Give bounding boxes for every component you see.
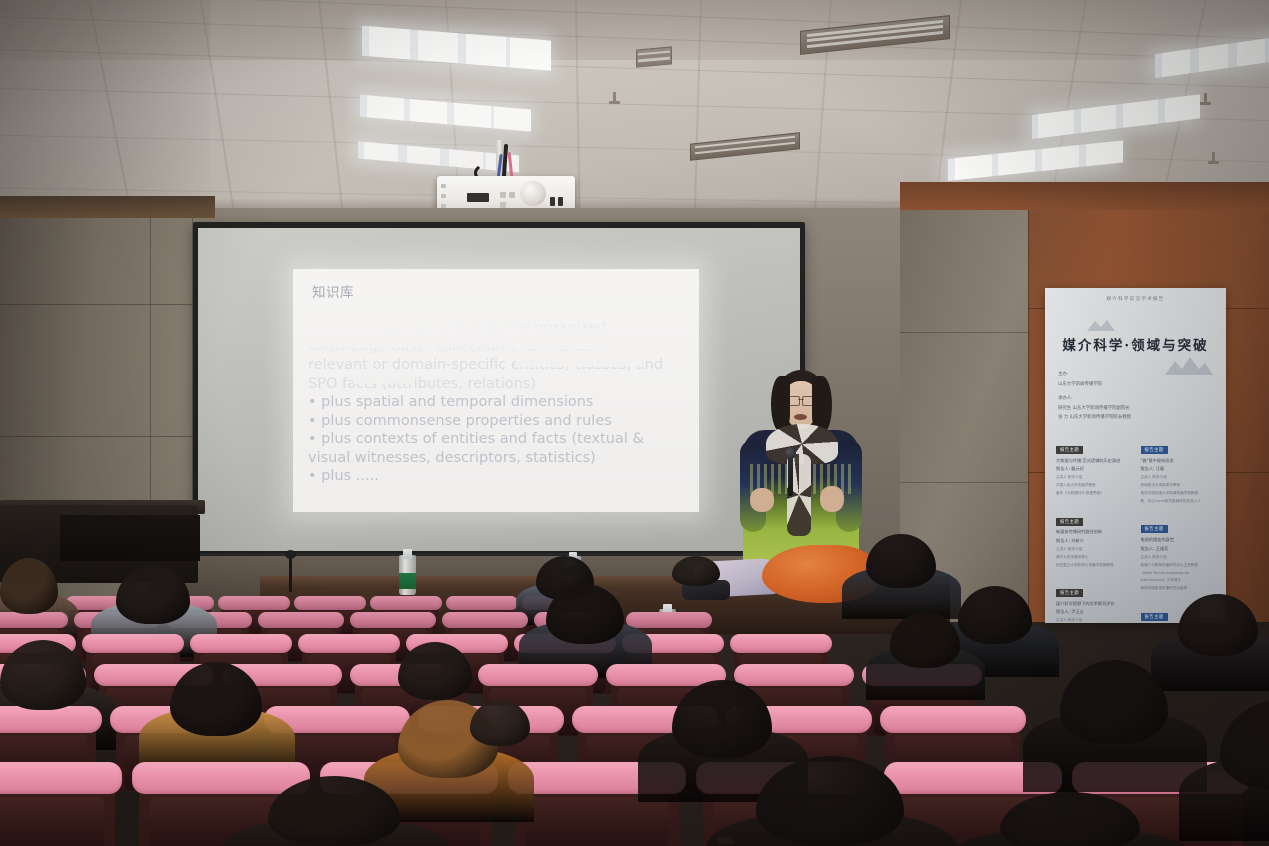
poster-meta-line: 承办人:	[1058, 394, 1216, 404]
session-tag: 报告主题	[1056, 518, 1083, 526]
session-bio: 现任复旦大学新闻与传播学院副教授	[1056, 563, 1134, 568]
poster-session-columns: 报告主题 大数据与传播:范式逻辑的历史演进 报告人: 戴元初 主讲人 职务介绍 …	[1056, 436, 1218, 623]
session-bio: 教、中心Ccnel研究新媒体形态深入人	[1141, 499, 1219, 504]
poster-session: 报告主题 媒介科学视野下的学术期刊评价 报告人: 尹玉吉 主讲人 职务介绍	[1056, 579, 1134, 623]
session-bio: 现任中国传媒大学新闻传播学院教授	[1141, 491, 1219, 496]
microphone-stand	[289, 556, 292, 592]
session-bio: 主讲人 职务介绍	[1056, 547, 1134, 552]
poster-meta-line: 主办:	[1058, 370, 1216, 380]
session-bio: 主讲人 职务介绍	[1056, 618, 1134, 623]
handheld-microphone[interactable]	[788, 454, 793, 496]
session-bio: 《Web·Ternak·Indonesia·for	[1141, 571, 1219, 576]
session-tag: 报告主题	[1141, 525, 1168, 533]
poster-meta-line: 研究生 山东大学新闻传播学院副院长	[1058, 404, 1216, 414]
slide-line: visual witnesses, descriptors, statistic…	[308, 449, 689, 468]
session-tag: 报告主题	[1141, 613, 1168, 621]
session-speaker: 报告人: 王维芳	[1141, 546, 1219, 552]
projector-side-slot	[441, 184, 446, 188]
projector-control-button[interactable]	[509, 192, 515, 198]
sprinkler-head	[1204, 93, 1207, 104]
session-topic: 媒介科学视野下的学术期刊评价	[1056, 601, 1134, 607]
poster-column-left: 报告主题 大数据与传播:范式逻辑的历史演进 报告人: 戴元初 主讲人 职务介绍 …	[1056, 436, 1134, 623]
ceiling-light-panel	[948, 141, 1116, 181]
poster-meta-line: 山东大学新闻传播学院	[1058, 380, 1216, 390]
session-tag: 报告主题	[1141, 446, 1168, 454]
poster-title: 媒介科学·领域与突破	[1045, 334, 1226, 354]
microphone-head-icon	[785, 448, 796, 459]
slide-line: • plus contexts of entities and facts (t…	[308, 430, 689, 449]
seat-headrest-cushion	[446, 596, 518, 610]
sprinkler-head	[613, 92, 616, 103]
slide-line: • plus spatial and temporal dimensions	[308, 393, 689, 412]
session-bio: 清华大学传播学博士	[1056, 555, 1134, 560]
presenter-hand-left	[750, 488, 774, 512]
wall-upper-band	[900, 182, 1269, 210]
presenter	[730, 368, 870, 568]
seat-headrest-cushion	[258, 612, 344, 628]
water-bottle[interactable]	[399, 549, 416, 595]
seat-headrest-cushion	[298, 634, 400, 653]
presenter-mouth	[794, 414, 807, 420]
session-tag: 报告主题	[1056, 589, 1083, 597]
session-bio: 西南政法大学新闻学教授	[1141, 483, 1219, 488]
seat-back-inner	[0, 797, 104, 846]
bottle-cap	[403, 549, 412, 559]
audience-member-head	[672, 556, 720, 586]
projector-control-button[interactable]	[558, 197, 563, 206]
seat-headrest-cushion	[218, 596, 290, 610]
presenter-hair-left	[771, 376, 790, 432]
session-speaker: 报告人: 尹玉吉	[1056, 609, 1134, 615]
session-topic: 电视的嬗变的身世	[1141, 537, 1219, 543]
projection-screen: 知识库 • Commonsense: semantically organize…	[193, 222, 805, 567]
slide-line: • plus commonsense properties and rules	[308, 412, 689, 431]
projector-lens	[520, 181, 546, 206]
poster-meta-line: 张 力 山东大学新闻传播学院院长教授	[1058, 413, 1216, 423]
mountain-decoration-icon	[1085, 318, 1125, 332]
table-microphone-icon[interactable]	[285, 550, 296, 559]
seat-headrest-cushion	[132, 762, 310, 794]
session-tag: 报告主题	[1056, 446, 1083, 454]
session-topic: 大数据与传播:范式逻辑的历史演进	[1056, 458, 1134, 464]
poster-session: 报告主题 电视的嬗变的身世 报告人: 王维芳 主讲人 职务介绍 新媒介与教育传播…	[1141, 515, 1219, 591]
projector-control-button[interactable]	[550, 197, 555, 206]
session-bio: 主讲人 职务介绍	[1141, 555, 1219, 560]
session-speaker: 报告人: 戴元初	[1056, 466, 1134, 472]
projector-glare	[515, 351, 643, 367]
lectern-panel	[60, 515, 200, 561]
session-bio: Informatives》文学博士	[1141, 578, 1219, 583]
seat-back-inner	[526, 797, 668, 846]
ceiling-air-vent	[636, 46, 672, 67]
poster-kicker: 媒介科学前沿学术报告	[1045, 296, 1226, 302]
projector-display-panel	[467, 193, 489, 202]
wall-trim-left	[0, 196, 215, 218]
session-bio: 新媒介与教育传播研究中心主任教授	[1141, 563, 1219, 568]
slide-line: • plus .....	[308, 467, 689, 486]
projector-glare	[505, 329, 633, 349]
projected-slide: 知识库 • Commonsense: semantically organize…	[293, 269, 699, 512]
screen-surface: 知识库 • Commonsense: semantically organize…	[198, 228, 800, 551]
session-bio: 主讲人 职务介绍	[1141, 475, 1219, 480]
poster-session: 报告主题 "微"境中视听形态 报告人: 汪磊 主讲人 职务介绍 西南政法大学新闻…	[1141, 436, 1219, 504]
ceiling-air-vent	[690, 132, 800, 161]
sprinkler-head	[1212, 152, 1215, 163]
ceiling-light-panel	[1032, 95, 1194, 139]
seat-headrest-cushion	[0, 762, 122, 794]
session-bio: 两岸传媒影视传播研究出版等	[1141, 586, 1219, 591]
bottle-label	[399, 573, 416, 589]
slide-title: 知识库	[312, 281, 354, 301]
lecture-hall-photo: 知识库 • Commonsense: semantically organize…	[0, 0, 1269, 846]
session-bio: 中国人民大学传播学教授	[1056, 483, 1134, 488]
session-bio: 主讲人 职务介绍	[1056, 475, 1134, 480]
poster-session: 报告主题 大数据与传播:范式逻辑的历史演进 报告人: 戴元初 主讲人 职务介绍 …	[1056, 436, 1134, 497]
seat-headrest-cushion	[478, 664, 598, 686]
auditorium-seat[interactable]	[0, 762, 122, 846]
seat-headrest-cushion	[82, 634, 184, 653]
projector-side-slot	[441, 194, 446, 198]
session-topic: "微"境中视听形态	[1141, 458, 1219, 464]
session-topic: 新媒体传播研究路径创新	[1056, 529, 1134, 535]
projector-cable-pink	[508, 152, 514, 178]
projector-glare	[293, 313, 523, 347]
projector-control-button[interactable]	[500, 192, 506, 198]
presenter-hand-right	[820, 486, 844, 512]
projector-glare	[353, 369, 413, 384]
seat-headrest-cushion	[734, 664, 854, 686]
event-poster: 媒介科学前沿学术报告 媒介科学·领域与突破 主办: 山东大学新闻传播学院 承办人…	[1045, 288, 1226, 623]
seat-headrest-cushion	[370, 596, 442, 610]
seat-headrest-cushion	[880, 706, 1026, 733]
seat-headrest-cushion	[626, 612, 712, 628]
seat-headrest-cushion	[190, 634, 292, 653]
seat-headrest-cushion	[0, 706, 102, 733]
session-speaker: 报告人: 刘新介	[1056, 538, 1134, 544]
seat-headrest-cushion	[294, 596, 366, 610]
seat-headrest-cushion	[350, 612, 436, 628]
poster-session: 报告主题 新媒体传播研究路径创新 报告人: 刘新介 主讲人 职务介绍 清华大学传…	[1056, 508, 1134, 569]
seat-headrest-cushion	[730, 634, 832, 653]
seat-headrest-cushion	[442, 612, 528, 628]
poster-organizer-info: 主办: 山东大学新闻传播学院 承办人: 研究生 山东大学新闻传播学院副院长 张 …	[1058, 370, 1216, 423]
session-bio: 著作《大数据时代·数据思维》	[1056, 491, 1134, 496]
seat-headrest-cushion	[0, 612, 68, 628]
session-speaker: 报告人: 汪磊	[1141, 466, 1219, 472]
